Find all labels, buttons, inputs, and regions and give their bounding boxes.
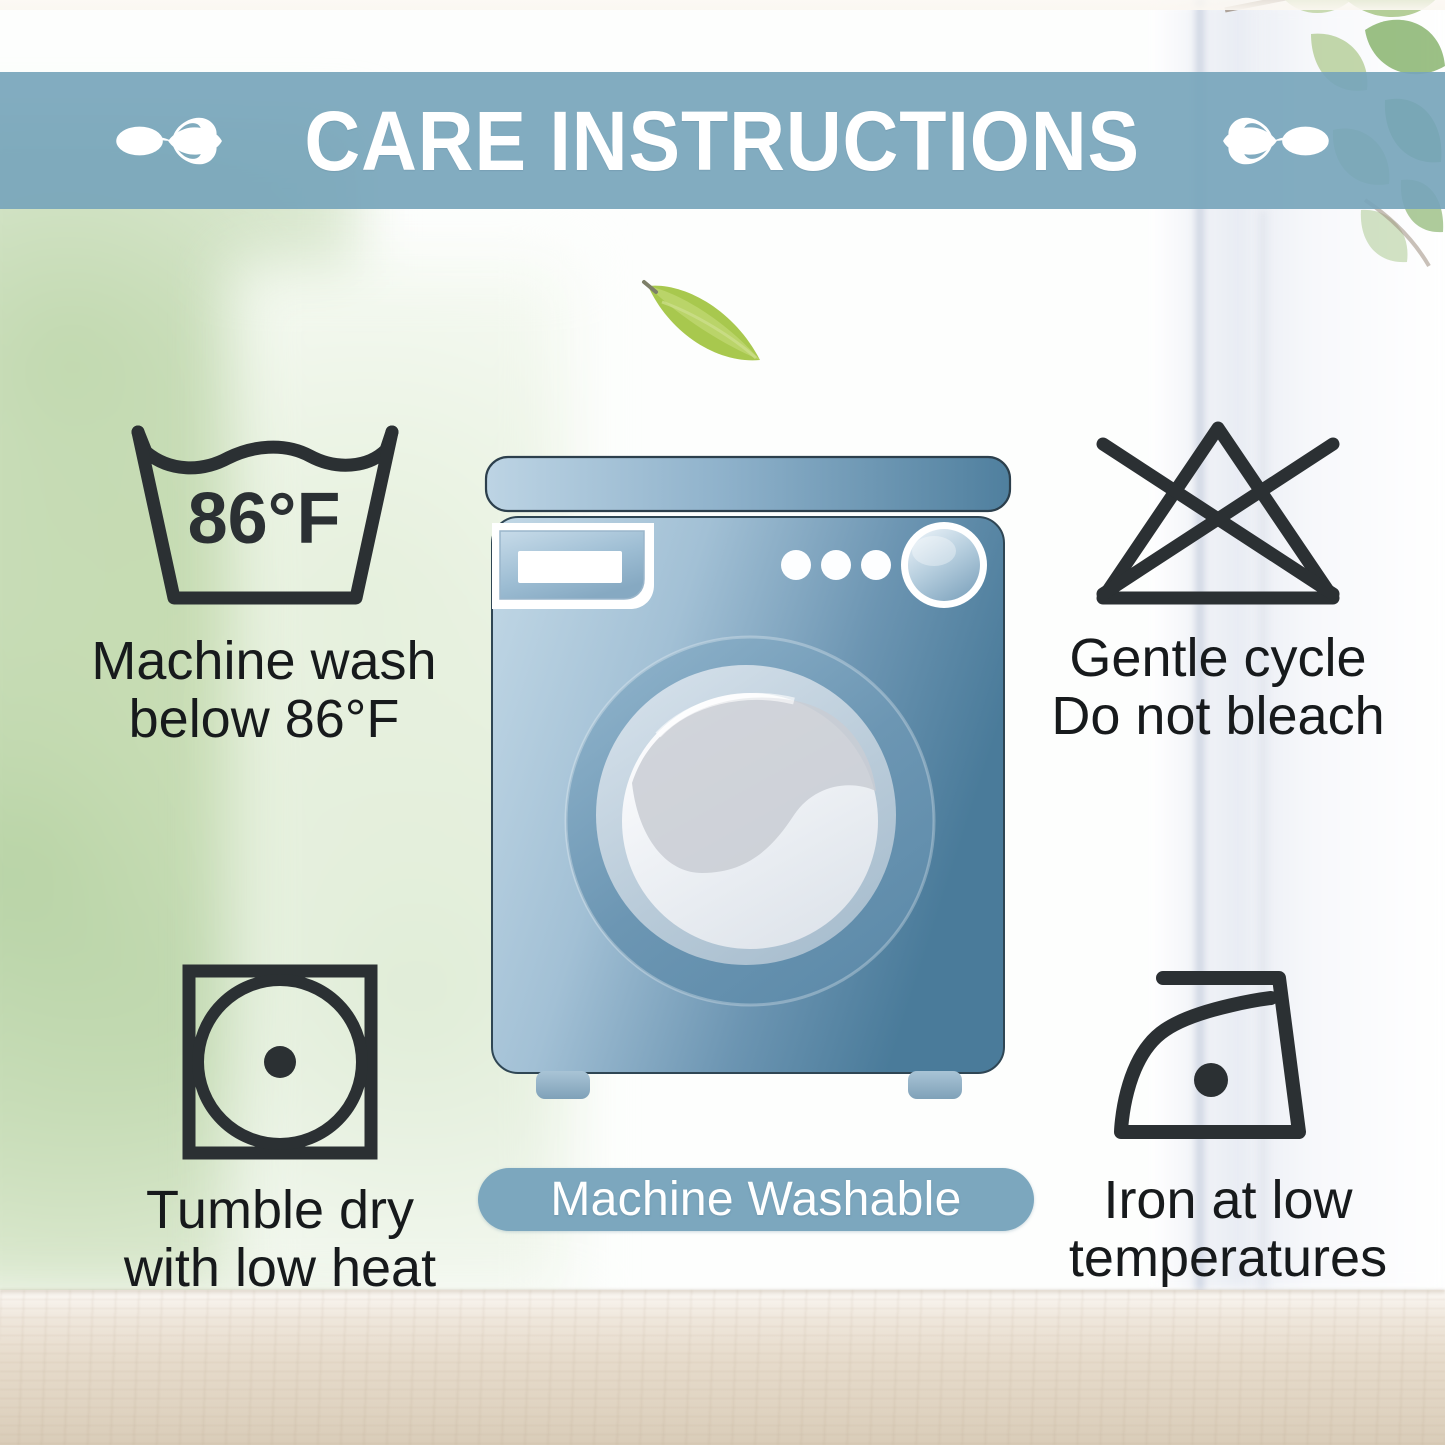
caption-line-1: Gentle cycle	[1051, 630, 1384, 688]
washer-feet	[536, 1071, 962, 1099]
indicator-light	[781, 550, 811, 580]
washer-foot	[908, 1071, 962, 1099]
washer-lid	[486, 457, 1010, 511]
table-shadow-fade	[0, 0, 1445, 10]
caption-line-2: Do not bleach	[1051, 688, 1384, 746]
fleur-de-lis-icon	[116, 98, 224, 184]
drawer-slot	[518, 551, 622, 583]
wood-grain-texture	[0, 1290, 1445, 1445]
washer-foot	[536, 1071, 590, 1099]
instruction-iron-low-temp: Iron at low temperatures	[1018, 962, 1438, 1288]
detergent-drawer	[492, 523, 654, 609]
indicator-lights	[781, 550, 891, 580]
wash-tub-icon: 86°F	[124, 418, 404, 613]
control-knob[interactable]	[901, 522, 987, 608]
fleur-de-lis-icon	[1221, 98, 1329, 184]
instruction-caption: Iron at low temperatures	[1069, 1172, 1387, 1288]
instruction-tumble-dry-low: Tumble dry with low heat	[60, 962, 500, 1298]
tumble-dry-square-icon	[180, 962, 380, 1162]
page-title: CARE INSTRUCTIONS	[305, 99, 1141, 183]
indicator-light	[821, 550, 851, 580]
caption-line-1: Machine wash	[91, 633, 436, 691]
indicator-light	[861, 550, 891, 580]
caption-line-1: Iron at low	[1069, 1172, 1387, 1230]
instruction-machine-wash: 86°F Machine wash below 86°F	[36, 418, 492, 749]
instruction-caption: Tumble dry with low heat	[124, 1182, 436, 1298]
washer-door[interactable]	[566, 637, 934, 1005]
washing-machine-illustration	[478, 443, 1018, 1123]
caption-line-2: below 86°F	[91, 691, 436, 749]
instruction-caption: Gentle cycle Do not bleach	[1051, 630, 1384, 746]
badge-label: Machine Washable	[550, 1176, 961, 1224]
green-leaf-icon	[640, 268, 770, 368]
do-not-bleach-triangle-icon	[1087, 418, 1349, 610]
caption-line-2: temperatures	[1069, 1230, 1387, 1288]
wash-temperature-value: 86°F	[188, 479, 341, 559]
caption-line-2: with low heat	[124, 1240, 436, 1298]
wooden-tabletop	[0, 1290, 1445, 1445]
instruction-gentle-cycle-no-bleach: Gentle cycle Do not bleach	[1008, 418, 1428, 746]
caption-line-1: Tumble dry	[124, 1182, 436, 1240]
machine-washable-badge: Machine Washable	[478, 1168, 1034, 1231]
header-banner: CARE INSTRUCTIONS	[0, 72, 1445, 209]
instruction-caption: Machine wash below 86°F	[91, 633, 436, 749]
iron-icon	[1103, 962, 1353, 1152]
